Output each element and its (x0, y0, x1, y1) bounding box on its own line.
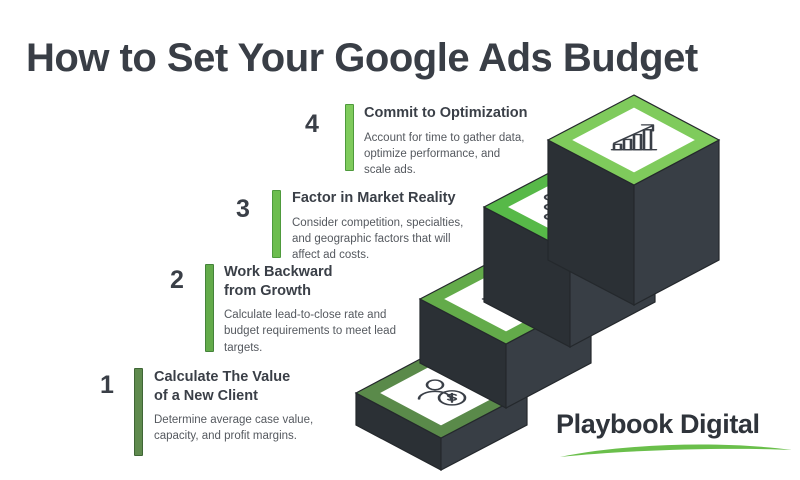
step-3-body: Factor in Market Reality Consider compet… (292, 189, 507, 264)
step-3-accent-bar (272, 190, 281, 258)
step-1-accent-bar (134, 368, 143, 456)
network-pricetag-icon (545, 195, 598, 220)
stair-block-2 (420, 254, 591, 408)
step-2-accent-bar (205, 264, 214, 352)
step-1-description: Determine average case value, capacity, … (154, 412, 369, 445)
step-4-accent-bar (345, 104, 354, 171)
step-4-number: 4 (305, 112, 319, 137)
step-3-description: Consider competition, specialties, and g… (292, 215, 507, 264)
step-2-body: Work Backward from Growth Calculate lead… (224, 263, 439, 356)
brand-name: Playbook Digital (556, 411, 796, 438)
person-dollar-icon (419, 380, 465, 405)
step-2-number: 2 (170, 268, 184, 293)
step-1-body: Calculate The Value of a New Client Dete… (154, 368, 369, 445)
step-1-number: 1 (100, 373, 114, 398)
bar-chart-growth-icon (612, 125, 656, 150)
step-2-title: Work Backward from Growth (224, 263, 439, 300)
brand-swoosh-icon (556, 439, 796, 461)
step-3-number: 3 (236, 197, 250, 222)
page-title: How to Set Your Google Ads Budget (26, 36, 786, 81)
stair-block-3 (484, 162, 655, 347)
stair-block-1 (356, 348, 527, 470)
step-4-description: Account for time to gather data, optimiz… (364, 130, 579, 179)
step-3-title: Factor in Market Reality (292, 189, 507, 208)
step-4-title: Commit to Optimization (364, 104, 579, 123)
step-2-description: Calculate lead-to-close rate and budget … (224, 307, 439, 356)
brand-logo: Playbook Digital (556, 411, 796, 469)
infographic-canvas: How to Set Your Google Ads Budget (0, 0, 800, 480)
step-1-title: Calculate The Value of a New Client (154, 368, 369, 405)
step-4-body: Commit to Optimization Account for time … (364, 104, 579, 179)
target-dollar-icon (483, 287, 529, 312)
